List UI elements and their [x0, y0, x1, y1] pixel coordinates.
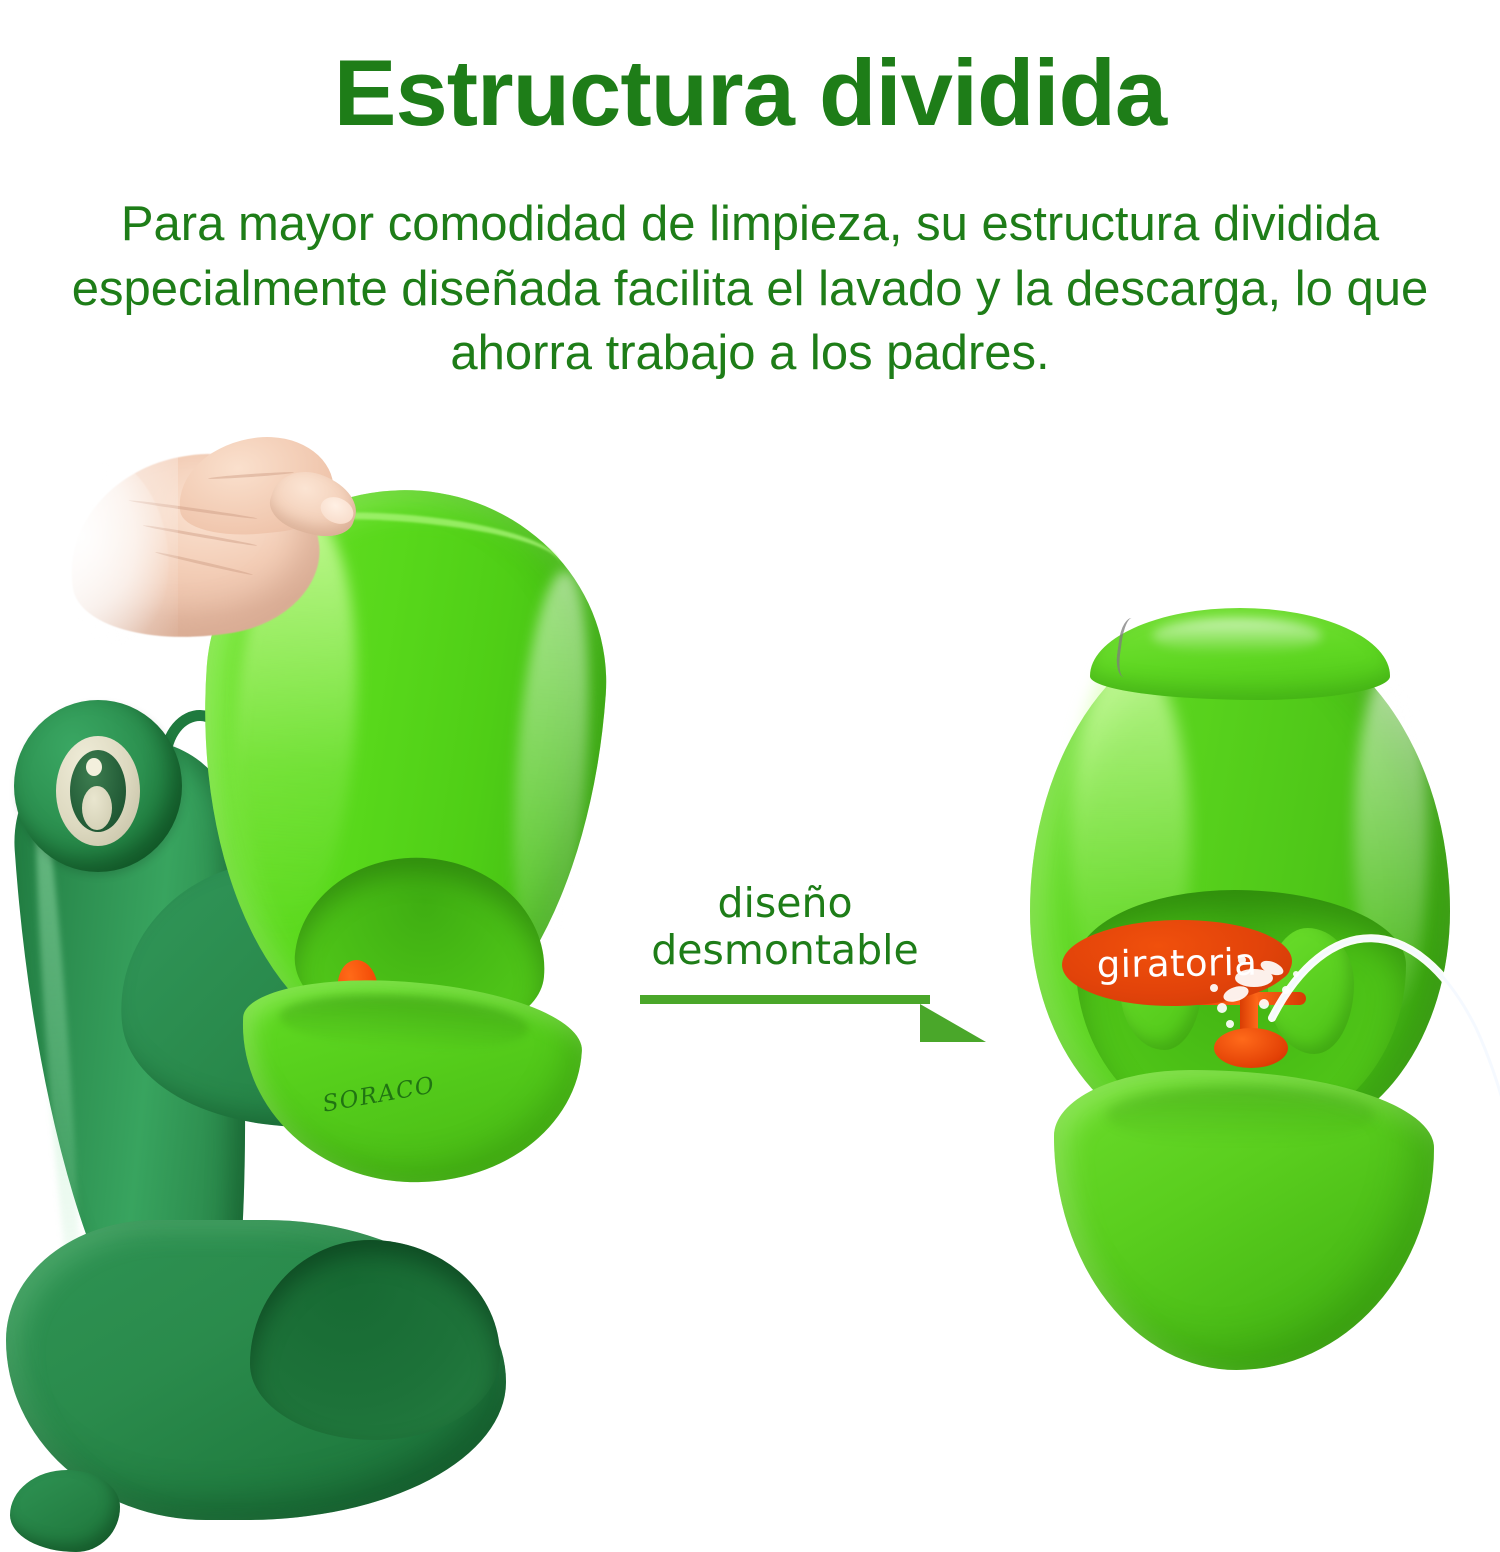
left-product-photo: SORACO	[0, 420, 660, 1500]
annotation-arrow-block: diseño desmontable	[620, 880, 1020, 1020]
frog-eye-glint	[86, 758, 102, 776]
status-badge-label: giratoria	[1096, 940, 1257, 986]
hand-holding-bowl	[58, 430, 358, 680]
frog-eye-pupil	[82, 786, 112, 830]
right-arrow-icon	[640, 995, 930, 1004]
annotation-label-line2: desmontable	[620, 927, 950, 974]
page-title: Estructura dividida	[0, 44, 1500, 143]
mount-foot	[10, 1470, 120, 1552]
right-product-photo: giratoria	[1000, 600, 1500, 1500]
annotation-label: diseño desmontable	[620, 880, 950, 974]
annotation-label-line1: diseño	[620, 880, 950, 927]
product-image-stage: SORACO diseño desmontable	[0, 420, 1500, 1500]
bowl-bottom	[1054, 1070, 1434, 1370]
description-paragraph: Para mayor comodidad de limpieza, su est…	[30, 192, 1470, 386]
